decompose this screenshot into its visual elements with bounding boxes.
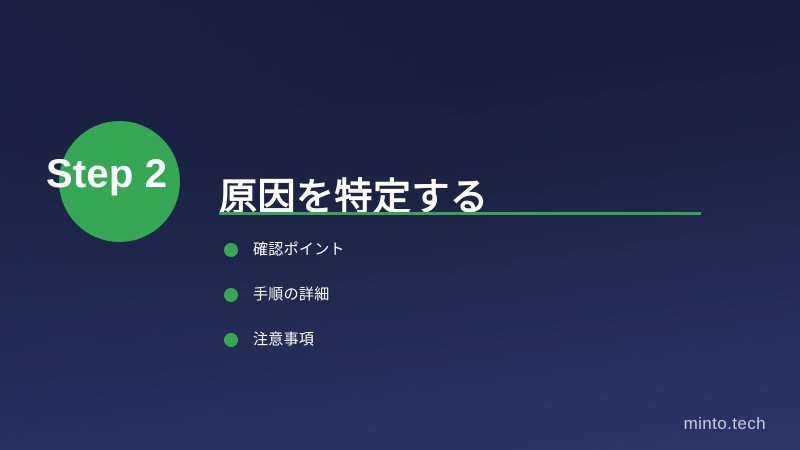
bullet-list: 確認ポイント 手順の詳細 注意事項 bbox=[224, 241, 345, 348]
list-item: 確認ポイント bbox=[224, 241, 345, 258]
bullet-label: 確認ポイント bbox=[253, 241, 345, 258]
bullet-label: 注意事項 bbox=[253, 331, 314, 348]
slide-canvas: Step 2 原因を特定する 確認ポイント 手順の詳細 注意事項 minto.t… bbox=[0, 0, 800, 450]
bullet-label: 手順の詳細 bbox=[253, 286, 330, 303]
bullet-dot-icon bbox=[224, 333, 238, 347]
footer-brand-label: minto.tech bbox=[684, 414, 766, 434]
list-item: 手順の詳細 bbox=[224, 286, 345, 303]
bullet-dot-icon bbox=[224, 288, 238, 302]
bullet-dot-icon bbox=[224, 243, 238, 257]
list-item: 注意事項 bbox=[224, 331, 345, 348]
step-number-label: Step 2 bbox=[46, 152, 167, 196]
title-divider bbox=[219, 212, 701, 215]
